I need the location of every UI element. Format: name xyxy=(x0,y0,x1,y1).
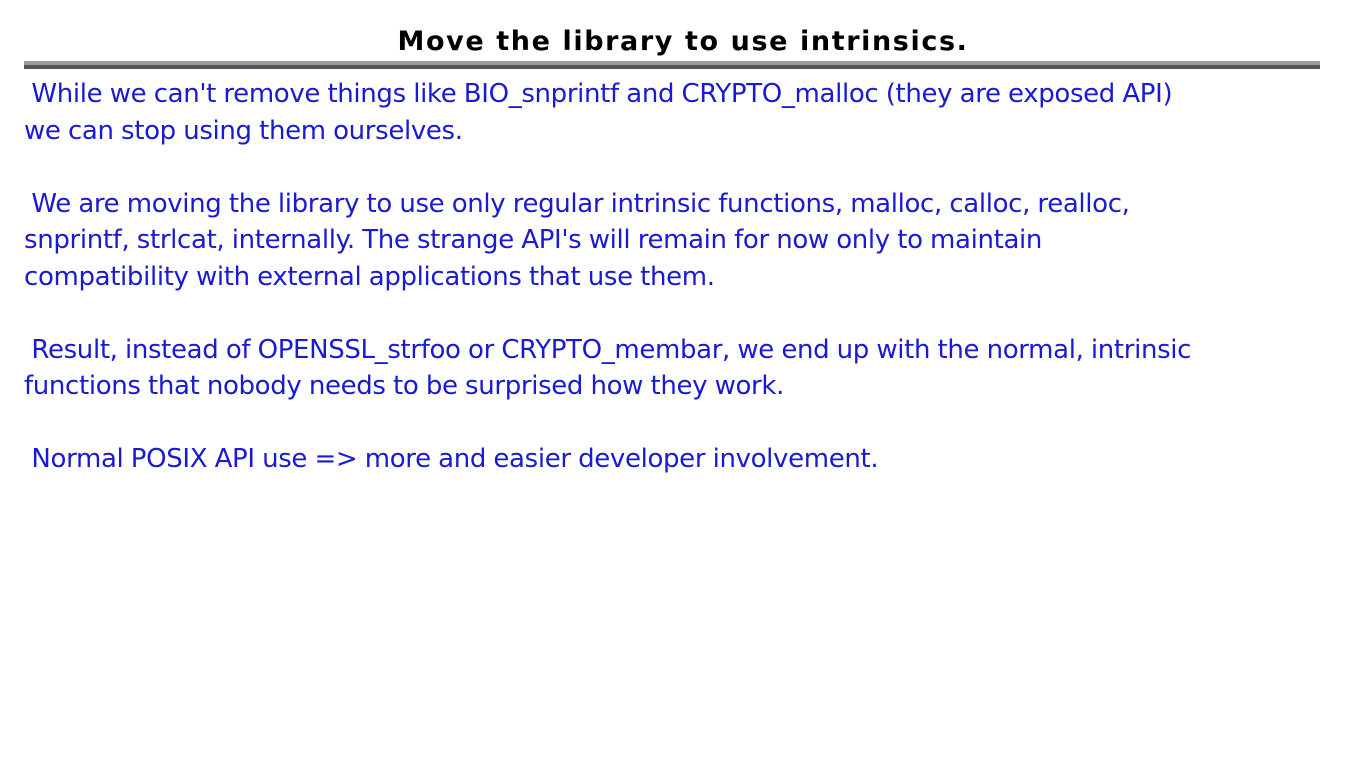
title-divider xyxy=(24,61,1320,69)
body-paragraph-3: Result, instead of OPENSSL_strfoo or CRY… xyxy=(24,332,1344,405)
body-paragraph-1: While we can't remove things like BIO_sn… xyxy=(24,76,1344,149)
paragraph-spacer xyxy=(24,405,1344,442)
body-paragraph-2: We are moving the library to use only re… xyxy=(24,186,1344,296)
slide-canvas: Move the library to use intrinsics. Whil… xyxy=(0,0,1366,768)
paragraph-spacer xyxy=(24,295,1344,332)
title-divider-shadow xyxy=(24,65,1320,69)
page-title: Move the library to use intrinsics. xyxy=(0,26,1366,58)
paragraph-spacer xyxy=(24,149,1344,186)
body-paragraph-4: Normal POSIX API use => more and easier … xyxy=(24,441,1344,478)
slide-body: While we can't remove things like BIO_sn… xyxy=(24,76,1344,478)
